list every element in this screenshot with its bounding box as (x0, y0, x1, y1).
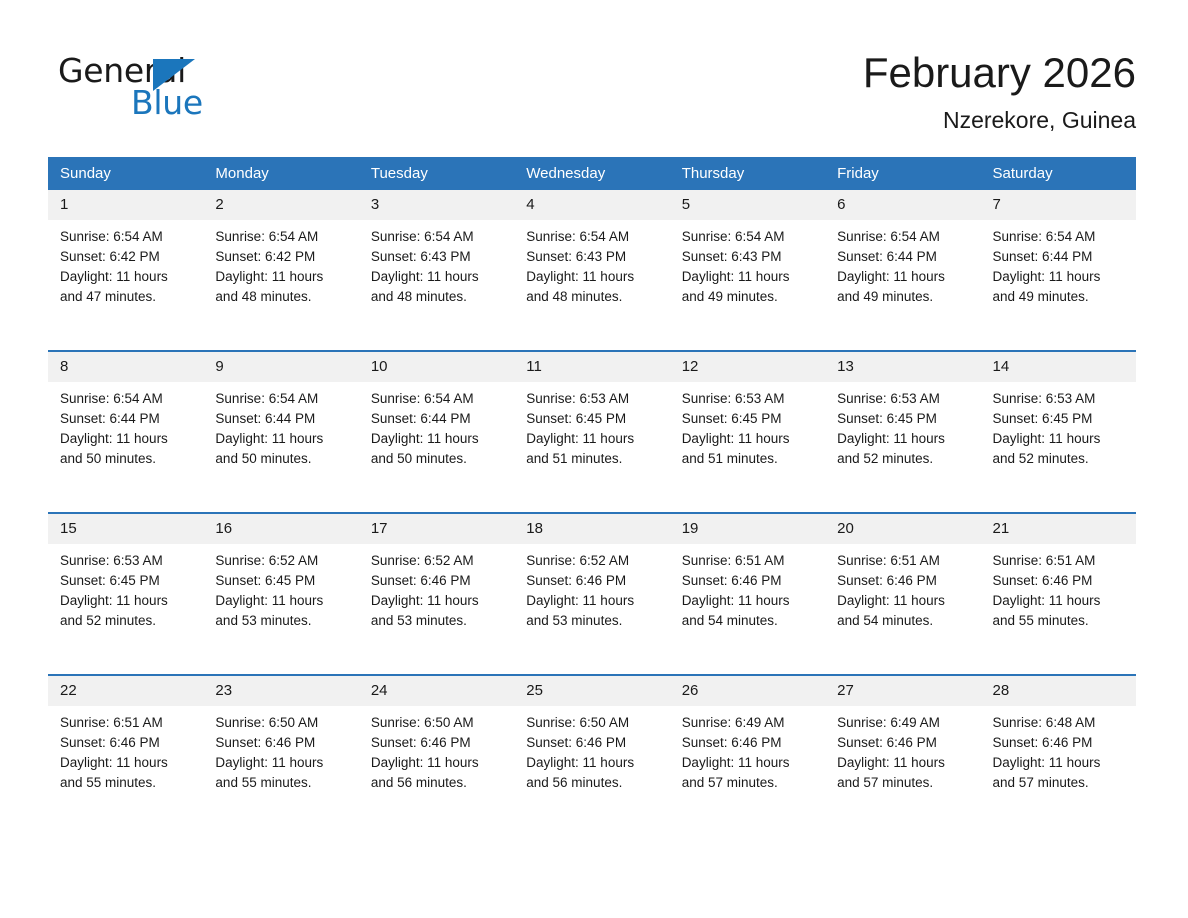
day-details: Sunrise: 6:53 AM Sunset: 6:45 PM Dayligh… (981, 382, 1136, 469)
daylight-text-line2: and 48 minutes. (215, 287, 348, 307)
day-details: Sunrise: 6:48 AM Sunset: 6:46 PM Dayligh… (981, 706, 1136, 793)
sunrise-text: Sunrise: 6:54 AM (215, 389, 348, 409)
sunrise-text: Sunrise: 6:54 AM (60, 227, 193, 247)
sunset-text: Sunset: 6:46 PM (993, 733, 1126, 753)
sunrise-text: Sunrise: 6:51 AM (993, 551, 1126, 571)
sunset-text: Sunset: 6:46 PM (60, 733, 193, 753)
daylight-text-line2: and 53 minutes. (371, 611, 504, 631)
daylight-text-line2: and 55 minutes. (993, 611, 1126, 631)
calendar-page: General Blue February 2026 Nzerekore, Gu… (0, 0, 1188, 918)
daylight-text-line2: and 49 minutes. (993, 287, 1126, 307)
day-details: Sunrise: 6:54 AM Sunset: 6:42 PM Dayligh… (48, 220, 203, 307)
sunrise-text: Sunrise: 6:49 AM (837, 713, 970, 733)
day-number: 5 (670, 190, 825, 220)
day-number: 27 (825, 676, 980, 706)
day-number: 14 (981, 352, 1136, 382)
daylight-text-line1: Daylight: 11 hours (526, 753, 659, 773)
sunrise-text: Sunrise: 6:51 AM (837, 551, 970, 571)
day-details: Sunrise: 6:51 AM Sunset: 6:46 PM Dayligh… (981, 544, 1136, 631)
sunrise-text: Sunrise: 6:50 AM (215, 713, 348, 733)
day-cell[interactable]: 9 Sunrise: 6:54 AM Sunset: 6:44 PM Dayli… (203, 351, 358, 513)
daylight-text-line1: Daylight: 11 hours (993, 267, 1126, 287)
sunrise-text: Sunrise: 6:53 AM (60, 551, 193, 571)
daylight-text-line2: and 56 minutes. (526, 773, 659, 793)
day-cell[interactable]: 28 Sunrise: 6:48 AM Sunset: 6:46 PM Dayl… (981, 675, 1136, 836)
daylight-text-line1: Daylight: 11 hours (526, 591, 659, 611)
daylight-text-line1: Daylight: 11 hours (682, 753, 815, 773)
day-number: 2 (203, 190, 358, 220)
daylight-text-line1: Daylight: 11 hours (60, 429, 193, 449)
day-cell[interactable]: 1 Sunrise: 6:54 AM Sunset: 6:42 PM Dayli… (48, 190, 203, 351)
daylight-text-line2: and 52 minutes. (60, 611, 193, 631)
day-cell[interactable]: 19 Sunrise: 6:51 AM Sunset: 6:46 PM Dayl… (670, 513, 825, 675)
sunset-text: Sunset: 6:46 PM (993, 571, 1126, 591)
day-number: 8 (48, 352, 203, 382)
day-number: 23 (203, 676, 358, 706)
sunrise-text: Sunrise: 6:54 AM (371, 389, 504, 409)
sunrise-text: Sunrise: 6:52 AM (215, 551, 348, 571)
sunrise-text: Sunrise: 6:51 AM (60, 713, 193, 733)
sunset-text: Sunset: 6:45 PM (215, 571, 348, 591)
day-number: 10 (359, 352, 514, 382)
day-cell[interactable]: 8 Sunrise: 6:54 AM Sunset: 6:44 PM Dayli… (48, 351, 203, 513)
sunset-text: Sunset: 6:42 PM (60, 247, 193, 267)
day-cell[interactable]: 13 Sunrise: 6:53 AM Sunset: 6:45 PM Dayl… (825, 351, 980, 513)
location-subtitle: Nzerekore, Guinea (863, 106, 1136, 134)
daylight-text-line1: Daylight: 11 hours (837, 591, 970, 611)
day-number: 6 (825, 190, 980, 220)
day-details: Sunrise: 6:53 AM Sunset: 6:45 PM Dayligh… (48, 544, 203, 631)
daylight-text-line2: and 48 minutes. (371, 287, 504, 307)
sunset-text: Sunset: 6:44 PM (993, 247, 1126, 267)
day-number: 1 (48, 190, 203, 220)
day-details: Sunrise: 6:52 AM Sunset: 6:45 PM Dayligh… (203, 544, 358, 631)
sunrise-text: Sunrise: 6:53 AM (993, 389, 1126, 409)
calendar-week-row: 22 Sunrise: 6:51 AM Sunset: 6:46 PM Dayl… (48, 675, 1136, 836)
daylight-text-line1: Daylight: 11 hours (682, 591, 815, 611)
day-number: 28 (981, 676, 1136, 706)
day-details: Sunrise: 6:54 AM Sunset: 6:44 PM Dayligh… (825, 220, 980, 307)
weekday-header-wednesday: Wednesday (514, 157, 669, 190)
day-cell[interactable]: 22 Sunrise: 6:51 AM Sunset: 6:46 PM Dayl… (48, 675, 203, 836)
daylight-text-line2: and 55 minutes. (215, 773, 348, 793)
sunset-text: Sunset: 6:46 PM (371, 733, 504, 753)
sunset-text: Sunset: 6:46 PM (526, 733, 659, 753)
day-cell[interactable]: 10 Sunrise: 6:54 AM Sunset: 6:44 PM Dayl… (359, 351, 514, 513)
sunset-text: Sunset: 6:44 PM (215, 409, 348, 429)
day-details: Sunrise: 6:52 AM Sunset: 6:46 PM Dayligh… (514, 544, 669, 631)
weekday-header-tuesday: Tuesday (359, 157, 514, 190)
day-number: 20 (825, 514, 980, 544)
day-details: Sunrise: 6:54 AM Sunset: 6:44 PM Dayligh… (203, 382, 358, 469)
daylight-text-line2: and 57 minutes. (837, 773, 970, 793)
calendar-week-row: 15 Sunrise: 6:53 AM Sunset: 6:45 PM Dayl… (48, 513, 1136, 675)
day-cell[interactable]: 7 Sunrise: 6:54 AM Sunset: 6:44 PM Dayli… (981, 190, 1136, 351)
day-number: 18 (514, 514, 669, 544)
sunset-text: Sunset: 6:45 PM (837, 409, 970, 429)
day-cell[interactable]: 5 Sunrise: 6:54 AM Sunset: 6:43 PM Dayli… (670, 190, 825, 351)
sunset-text: Sunset: 6:43 PM (371, 247, 504, 267)
day-cell[interactable]: 12 Sunrise: 6:53 AM Sunset: 6:45 PM Dayl… (670, 351, 825, 513)
weekday-header-monday: Monday (203, 157, 358, 190)
day-details: Sunrise: 6:49 AM Sunset: 6:46 PM Dayligh… (670, 706, 825, 793)
sunrise-text: Sunrise: 6:54 AM (837, 227, 970, 247)
day-number: 3 (359, 190, 514, 220)
weekday-header-thursday: Thursday (670, 157, 825, 190)
sunrise-text: Sunrise: 6:50 AM (371, 713, 504, 733)
sunrise-text: Sunrise: 6:54 AM (371, 227, 504, 247)
day-details: Sunrise: 6:54 AM Sunset: 6:43 PM Dayligh… (670, 220, 825, 307)
daylight-text-line1: Daylight: 11 hours (371, 267, 504, 287)
day-details: Sunrise: 6:50 AM Sunset: 6:46 PM Dayligh… (359, 706, 514, 793)
weekday-header-saturday: Saturday (981, 157, 1136, 190)
sunrise-text: Sunrise: 6:54 AM (682, 227, 815, 247)
day-number: 26 (670, 676, 825, 706)
daylight-text-line2: and 56 minutes. (371, 773, 504, 793)
weekday-header-sunday: Sunday (48, 157, 203, 190)
sunrise-text: Sunrise: 6:54 AM (526, 227, 659, 247)
page-title: February 2026 (863, 48, 1136, 98)
calendar-header-row: Sunday Monday Tuesday Wednesday Thursday… (48, 157, 1136, 190)
day-details: Sunrise: 6:53 AM Sunset: 6:45 PM Dayligh… (514, 382, 669, 469)
day-cell[interactable]: 20 Sunrise: 6:51 AM Sunset: 6:46 PM Dayl… (825, 513, 980, 675)
day-details: Sunrise: 6:54 AM Sunset: 6:43 PM Dayligh… (514, 220, 669, 307)
day-cell[interactable]: 6 Sunrise: 6:54 AM Sunset: 6:44 PM Dayli… (825, 190, 980, 351)
day-number: 15 (48, 514, 203, 544)
sunrise-text: Sunrise: 6:53 AM (682, 389, 815, 409)
day-number: 19 (670, 514, 825, 544)
logo-text-blue: Blue (131, 84, 203, 122)
daylight-text-line1: Daylight: 11 hours (837, 429, 970, 449)
daylight-text-line2: and 54 minutes. (837, 611, 970, 631)
daylight-text-line2: and 54 minutes. (682, 611, 815, 631)
daylight-text-line1: Daylight: 11 hours (837, 267, 970, 287)
sunset-text: Sunset: 6:45 PM (993, 409, 1126, 429)
daylight-text-line1: Daylight: 11 hours (993, 753, 1126, 773)
daylight-text-line1: Daylight: 11 hours (60, 267, 193, 287)
sunset-text: Sunset: 6:44 PM (371, 409, 504, 429)
day-cell[interactable]: 26 Sunrise: 6:49 AM Sunset: 6:46 PM Dayl… (670, 675, 825, 836)
calendar-week-row: 1 Sunrise: 6:54 AM Sunset: 6:42 PM Dayli… (48, 190, 1136, 351)
day-number: 13 (825, 352, 980, 382)
daylight-text-line2: and 50 minutes. (371, 449, 504, 469)
daylight-text-line2: and 47 minutes. (60, 287, 193, 307)
sunset-text: Sunset: 6:45 PM (60, 571, 193, 591)
daylight-text-line1: Daylight: 11 hours (215, 591, 348, 611)
sunrise-text: Sunrise: 6:50 AM (526, 713, 659, 733)
day-details: Sunrise: 6:50 AM Sunset: 6:46 PM Dayligh… (203, 706, 358, 793)
daylight-text-line2: and 50 minutes. (60, 449, 193, 469)
daylight-text-line2: and 55 minutes. (60, 773, 193, 793)
day-cell[interactable]: 24 Sunrise: 6:50 AM Sunset: 6:46 PM Dayl… (359, 675, 514, 836)
day-number: 9 (203, 352, 358, 382)
day-cell[interactable]: 11 Sunrise: 6:53 AM Sunset: 6:45 PM Dayl… (514, 351, 669, 513)
day-details: Sunrise: 6:54 AM Sunset: 6:43 PM Dayligh… (359, 220, 514, 307)
day-number: 4 (514, 190, 669, 220)
day-cell[interactable]: 3 Sunrise: 6:54 AM Sunset: 6:43 PM Dayli… (359, 190, 514, 351)
day-details: Sunrise: 6:52 AM Sunset: 6:46 PM Dayligh… (359, 544, 514, 631)
sunrise-text: Sunrise: 6:53 AM (526, 389, 659, 409)
calendar-body: 1 Sunrise: 6:54 AM Sunset: 6:42 PM Dayli… (48, 190, 1136, 836)
daylight-text-line2: and 57 minutes. (682, 773, 815, 793)
sunrise-text: Sunrise: 6:53 AM (837, 389, 970, 409)
day-details: Sunrise: 6:54 AM Sunset: 6:44 PM Dayligh… (981, 220, 1136, 307)
day-cell[interactable]: 25 Sunrise: 6:50 AM Sunset: 6:46 PM Dayl… (514, 675, 669, 836)
day-details: Sunrise: 6:54 AM Sunset: 6:44 PM Dayligh… (359, 382, 514, 469)
day-details: Sunrise: 6:54 AM Sunset: 6:42 PM Dayligh… (203, 220, 358, 307)
sunset-text: Sunset: 6:43 PM (526, 247, 659, 267)
sunset-text: Sunset: 6:46 PM (526, 571, 659, 591)
sunset-text: Sunset: 6:43 PM (682, 247, 815, 267)
daylight-text-line1: Daylight: 11 hours (215, 429, 348, 449)
sunrise-text: Sunrise: 6:51 AM (682, 551, 815, 571)
day-details: Sunrise: 6:50 AM Sunset: 6:46 PM Dayligh… (514, 706, 669, 793)
day-details: Sunrise: 6:51 AM Sunset: 6:46 PM Dayligh… (48, 706, 203, 793)
day-cell[interactable]: 4 Sunrise: 6:54 AM Sunset: 6:43 PM Dayli… (514, 190, 669, 351)
sunset-text: Sunset: 6:45 PM (526, 409, 659, 429)
day-cell[interactable]: 14 Sunrise: 6:53 AM Sunset: 6:45 PM Dayl… (981, 351, 1136, 513)
weekday-header-friday: Friday (825, 157, 980, 190)
day-number: 7 (981, 190, 1136, 220)
daylight-text-line1: Daylight: 11 hours (993, 591, 1126, 611)
page-header: General Blue February 2026 Nzerekore, Gu… (0, 0, 1188, 150)
daylight-text-line2: and 52 minutes. (993, 449, 1126, 469)
sunrise-text: Sunrise: 6:49 AM (682, 713, 815, 733)
daylight-text-line2: and 53 minutes. (215, 611, 348, 631)
daylight-text-line1: Daylight: 11 hours (837, 753, 970, 773)
day-number: 16 (203, 514, 358, 544)
sunset-text: Sunset: 6:46 PM (682, 733, 815, 753)
day-cell[interactable]: 16 Sunrise: 6:52 AM Sunset: 6:45 PM Dayl… (203, 513, 358, 675)
sunrise-text: Sunrise: 6:54 AM (993, 227, 1126, 247)
daylight-text-line2: and 49 minutes. (837, 287, 970, 307)
daylight-text-line2: and 53 minutes. (526, 611, 659, 631)
daylight-text-line2: and 57 minutes. (993, 773, 1126, 793)
title-block: February 2026 Nzerekore, Guinea (863, 48, 1136, 134)
day-number: 21 (981, 514, 1136, 544)
day-cell[interactable]: 17 Sunrise: 6:52 AM Sunset: 6:46 PM Dayl… (359, 513, 514, 675)
generalblue-logo[interactable]: General Blue (58, 52, 318, 130)
sunset-text: Sunset: 6:42 PM (215, 247, 348, 267)
sunrise-text: Sunrise: 6:54 AM (215, 227, 348, 247)
day-number: 11 (514, 352, 669, 382)
daylight-text-line1: Daylight: 11 hours (215, 267, 348, 287)
daylight-text-line1: Daylight: 11 hours (60, 753, 193, 773)
day-cell[interactable]: 18 Sunrise: 6:52 AM Sunset: 6:46 PM Dayl… (514, 513, 669, 675)
sunset-text: Sunset: 6:44 PM (60, 409, 193, 429)
sunset-text: Sunset: 6:46 PM (371, 571, 504, 591)
daylight-text-line1: Daylight: 11 hours (682, 429, 815, 449)
daylight-text-line1: Daylight: 11 hours (682, 267, 815, 287)
day-cell[interactable]: 15 Sunrise: 6:53 AM Sunset: 6:45 PM Dayl… (48, 513, 203, 675)
daylight-text-line1: Daylight: 11 hours (371, 429, 504, 449)
calendar-table: Sunday Monday Tuesday Wednesday Thursday… (48, 157, 1136, 836)
day-details: Sunrise: 6:53 AM Sunset: 6:45 PM Dayligh… (825, 382, 980, 469)
sunset-text: Sunset: 6:46 PM (837, 733, 970, 753)
sunrise-text: Sunrise: 6:52 AM (526, 551, 659, 571)
daylight-text-line2: and 51 minutes. (526, 449, 659, 469)
sunrise-text: Sunrise: 6:48 AM (993, 713, 1126, 733)
sunset-text: Sunset: 6:46 PM (215, 733, 348, 753)
day-number: 12 (670, 352, 825, 382)
day-number: 22 (48, 676, 203, 706)
daylight-text-line2: and 49 minutes. (682, 287, 815, 307)
sunset-text: Sunset: 6:44 PM (837, 247, 970, 267)
sunrise-text: Sunrise: 6:52 AM (371, 551, 504, 571)
day-cell[interactable]: 21 Sunrise: 6:51 AM Sunset: 6:46 PM Dayl… (981, 513, 1136, 675)
day-details: Sunrise: 6:51 AM Sunset: 6:46 PM Dayligh… (670, 544, 825, 631)
day-cell[interactable]: 2 Sunrise: 6:54 AM Sunset: 6:42 PM Dayli… (203, 190, 358, 351)
day-details: Sunrise: 6:49 AM Sunset: 6:46 PM Dayligh… (825, 706, 980, 793)
calendar-week-row: 8 Sunrise: 6:54 AM Sunset: 6:44 PM Dayli… (48, 351, 1136, 513)
daylight-text-line1: Daylight: 11 hours (60, 591, 193, 611)
daylight-text-line1: Daylight: 11 hours (526, 429, 659, 449)
daylight-text-line1: Daylight: 11 hours (215, 753, 348, 773)
day-details: Sunrise: 6:51 AM Sunset: 6:46 PM Dayligh… (825, 544, 980, 631)
sunrise-text: Sunrise: 6:54 AM (60, 389, 193, 409)
daylight-text-line1: Daylight: 11 hours (371, 753, 504, 773)
day-number: 24 (359, 676, 514, 706)
daylight-text-line1: Daylight: 11 hours (993, 429, 1126, 449)
sunset-text: Sunset: 6:45 PM (682, 409, 815, 429)
day-details: Sunrise: 6:53 AM Sunset: 6:45 PM Dayligh… (670, 382, 825, 469)
daylight-text-line1: Daylight: 11 hours (371, 591, 504, 611)
calendar-grid: Sunday Monday Tuesday Wednesday Thursday… (48, 157, 1136, 836)
daylight-text-line2: and 52 minutes. (837, 449, 970, 469)
daylight-text-line2: and 51 minutes. (682, 449, 815, 469)
daylight-text-line2: and 48 minutes. (526, 287, 659, 307)
day-details: Sunrise: 6:54 AM Sunset: 6:44 PM Dayligh… (48, 382, 203, 469)
sunset-text: Sunset: 6:46 PM (682, 571, 815, 591)
daylight-text-line1: Daylight: 11 hours (526, 267, 659, 287)
day-number: 17 (359, 514, 514, 544)
sunset-text: Sunset: 6:46 PM (837, 571, 970, 591)
day-number: 25 (514, 676, 669, 706)
day-cell[interactable]: 23 Sunrise: 6:50 AM Sunset: 6:46 PM Dayl… (203, 675, 358, 836)
daylight-text-line2: and 50 minutes. (215, 449, 348, 469)
day-cell[interactable]: 27 Sunrise: 6:49 AM Sunset: 6:46 PM Dayl… (825, 675, 980, 836)
